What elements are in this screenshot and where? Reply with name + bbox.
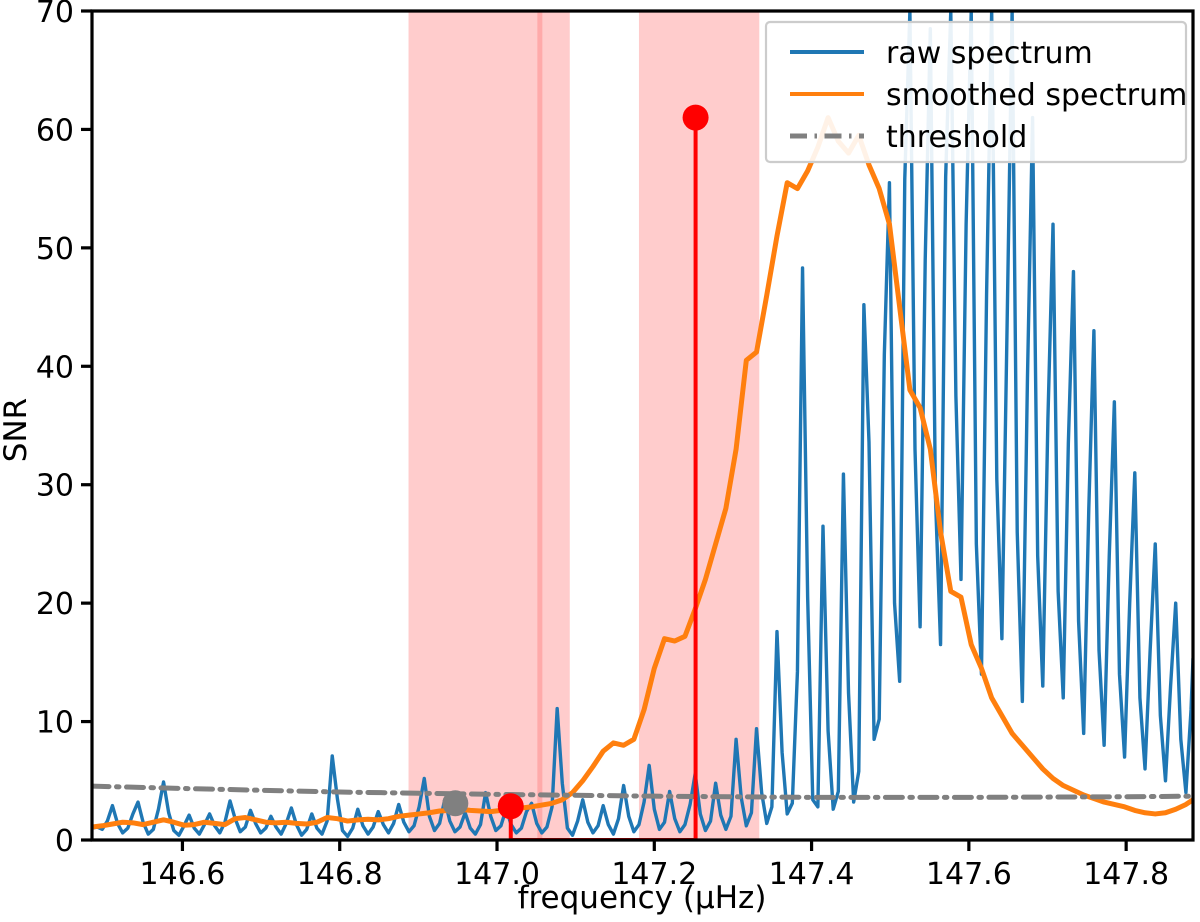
x-tick-label: 147.8 (1083, 857, 1169, 892)
candidate-peak-marker (498, 793, 524, 819)
detected-peak-marker (683, 105, 709, 131)
y-axis-ticks: 010203040506070 (36, 0, 92, 859)
legend: raw spectrumsmoothed spectrumthreshold (766, 22, 1187, 162)
noise-reference-marker (442, 790, 468, 816)
x-axis-title: frequency (μHz) (518, 880, 767, 916)
y-tick-label: 10 (36, 706, 74, 741)
legend-label-threshold: threshold (886, 120, 1027, 155)
x-tick-label: 147.4 (769, 857, 855, 892)
x-tick-label: 147.6 (926, 857, 1012, 892)
y-axis-title: SNR (0, 398, 34, 462)
y-tick-label: 70 (36, 0, 74, 30)
legend-label-raw-spectrum: raw spectrum (886, 36, 1093, 71)
x-tick-label: 146.8 (297, 857, 383, 892)
y-tick-label: 40 (36, 350, 74, 385)
y-tick-label: 50 (36, 232, 74, 267)
snr-spectrum-plot: 146.6146.8147.0147.2147.4147.6147.8 0102… (0, 0, 1200, 922)
x-tick-label: 146.6 (139, 857, 225, 892)
figure-container: 146.6146.8147.0147.2147.4147.6147.8 0102… (0, 0, 1200, 922)
y-tick-label: 30 (36, 469, 74, 504)
candidate-band-1 (409, 11, 570, 840)
y-tick-label: 20 (36, 587, 74, 622)
y-tick-label: 60 (36, 113, 74, 148)
y-tick-label: 0 (55, 824, 74, 859)
legend-label-smoothed-spectrum: smoothed spectrum (886, 78, 1187, 113)
